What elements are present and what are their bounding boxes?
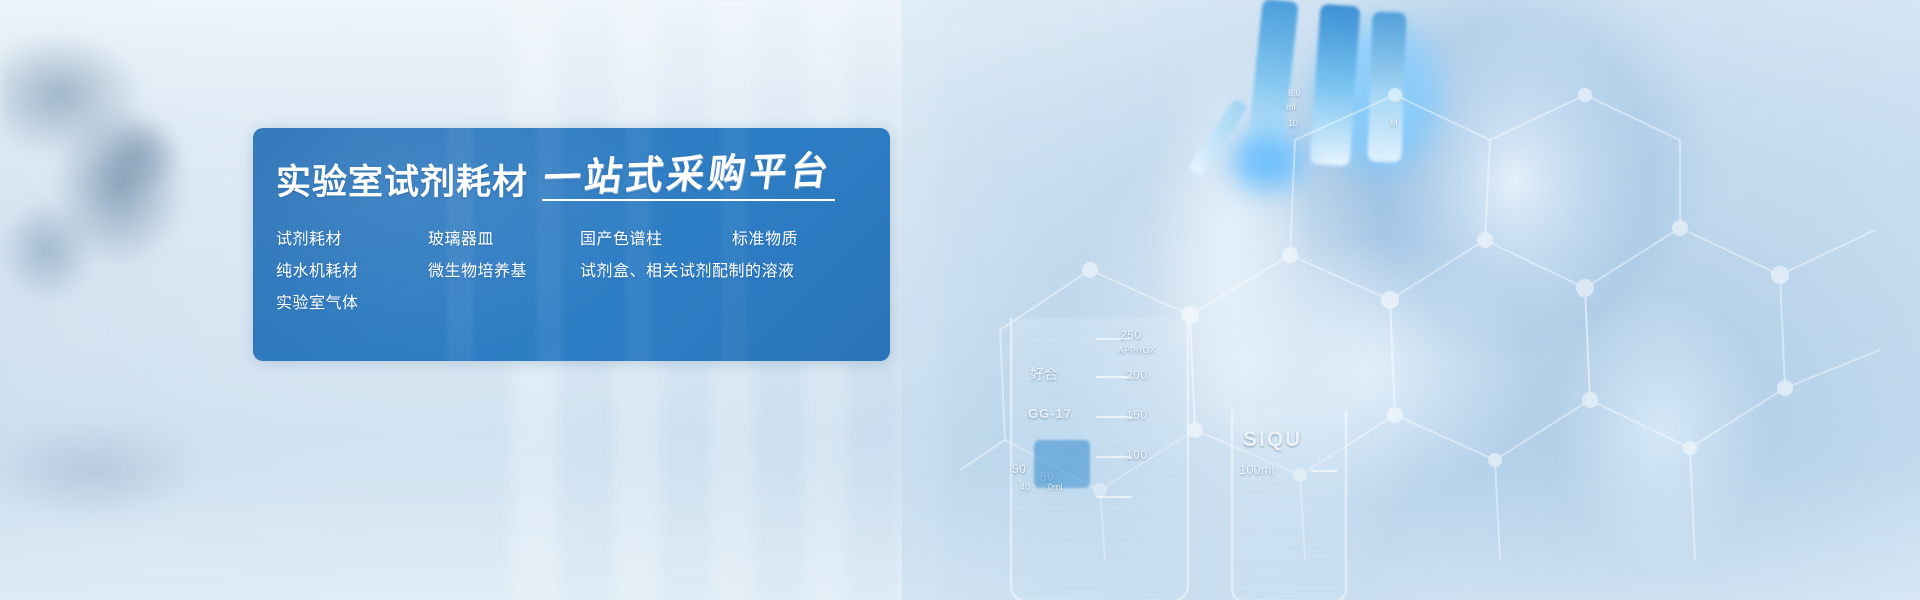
beaker-grad-50: [1096, 496, 1132, 498]
category-link-grid: 试剂耗材 玻璃器皿 国产色谱柱 标准物质 纯水机耗材 微生物培养基 试剂盒、相关…: [276, 231, 890, 311]
tube-mark-50: 50: [1012, 462, 1026, 476]
category-link-glassware[interactable]: 玻璃器皿: [428, 231, 580, 247]
graduated-beaker-small: SIQU 100ml: [1225, 400, 1355, 600]
category-row-3: 实验室气体: [276, 295, 890, 311]
tube-mark-40: 40: [1020, 482, 1030, 492]
beaker-approx-label: APPROX: [1118, 345, 1156, 355]
tube-label-80: 8.0: [1288, 88, 1301, 98]
promo-panel: 实验室试剂耗材 一站式采购平台 试剂耗材 玻璃器皿 国产色谱柱 标准物质 纯水机…: [253, 128, 890, 361]
panel-headline: 实验室试剂耗材 一站式采购平台: [276, 155, 890, 201]
headline-script-underline: 一站式采购平台: [542, 155, 835, 201]
beaker-grad-label-100: 100: [1126, 448, 1148, 462]
beaker-grad-label-250: 250: [1120, 328, 1142, 342]
category-link-reagent-kits-solutions[interactable]: 试剂盒、相关试剂配制的溶液: [580, 263, 795, 279]
beaker-small-brand: SIQU: [1243, 428, 1302, 452]
category-link-reagent-consumables[interactable]: 试剂耗材: [276, 231, 428, 247]
tube-label-10: 10: [1288, 118, 1298, 128]
lab-supplies-hero-banner: 250 APPROX 200 150 100 50 GG-17 好合 SIQU …: [0, 0, 1920, 600]
beaker-small-capacity: 100ml: [1239, 462, 1274, 477]
headline-script-text: 一站式采购平台: [539, 150, 839, 203]
category-link-water-purifier-consumables[interactable]: 纯水机耗材: [276, 263, 428, 279]
graduated-beaker-large: 250 APPROX 200 150 100 50 GG-17 好合: [1000, 300, 1200, 600]
category-link-reference-materials[interactable]: 标准物质: [732, 231, 882, 247]
beaker-brand-mark: 好合: [1030, 364, 1058, 384]
tube-label-m: M: [1390, 118, 1398, 128]
beaker-liquid-fill: [1034, 440, 1090, 488]
beaker-grad-label-200: 200: [1126, 368, 1148, 382]
headline-primary-text: 实验室试剂耗材: [276, 166, 528, 201]
category-row-1: 试剂耗材 玻璃器皿 国产色谱柱 标准物质: [276, 231, 890, 247]
category-link-domestic-chromatography-column[interactable]: 国产色谱柱: [580, 231, 732, 247]
beaker-grad-label-150: 150: [1126, 408, 1148, 422]
category-row-2: 纯水机耗材 微生物培养基 试剂盒、相关试剂配制的溶液: [276, 263, 890, 279]
beaker-small-grad-a: [1311, 470, 1337, 472]
tube-mark-0ml: 0ml: [1048, 482, 1063, 492]
category-link-laboratory-gases[interactable]: 实验室气体: [276, 295, 428, 311]
tube-label-ml: ml: [1286, 102, 1296, 112]
beaker-glass-code: GG-17: [1028, 406, 1072, 421]
category-link-microbial-culture-media[interactable]: 微生物培养基: [428, 263, 580, 279]
